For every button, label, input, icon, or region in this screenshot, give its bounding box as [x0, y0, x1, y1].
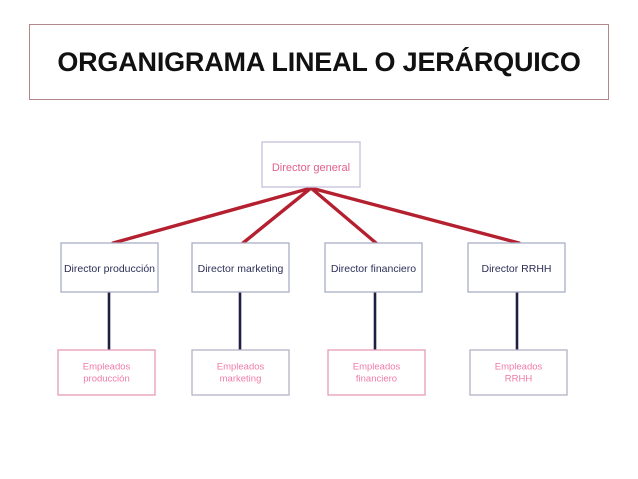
- node-empleados-financiero-label-line2: financiero: [356, 374, 397, 385]
- node-director-produccion-label: Director producción: [64, 263, 155, 275]
- org-chart-svg: Director general Director producción Dir…: [0, 110, 638, 479]
- edge-dg-produccion: [113, 188, 311, 243]
- page-title: ORGANIGRAMA LINEAL O JERÁRQUICO: [57, 47, 580, 78]
- slide-canvas: ORGANIGRAMA LINEAL O JERÁRQUICO Director: [0, 0, 638, 479]
- node-empleados-rrhh[interactable]: Empleados RRHH: [470, 350, 567, 395]
- org-chart: Director general Director producción Dir…: [0, 110, 638, 479]
- node-empleados-rrhh-label-line2: RRHH: [505, 374, 533, 385]
- node-empleados-marketing-label-line1: Empleados: [217, 362, 265, 373]
- node-empleados-financiero-label-line1: Empleados: [353, 362, 401, 373]
- node-director-marketing[interactable]: Director marketing: [192, 243, 289, 292]
- node-empleados-rrhh-label-line1: Empleados: [495, 362, 543, 373]
- title-banner: ORGANIGRAMA LINEAL O JERÁRQUICO: [29, 24, 609, 100]
- node-director-financiero[interactable]: Director financiero: [325, 243, 422, 292]
- node-empleados-marketing[interactable]: Empleados marketing: [192, 350, 289, 395]
- level2-connectors: [109, 292, 517, 350]
- node-empleados-financiero[interactable]: Empleados financiero: [328, 350, 425, 395]
- node-empleados-marketing-label-line2: marketing: [220, 374, 262, 385]
- node-director-general-label: Director general: [272, 162, 350, 174]
- node-director-general[interactable]: Director general: [262, 142, 360, 187]
- node-director-marketing-label: Director marketing: [198, 263, 284, 275]
- node-director-rrhh[interactable]: Director RRHH: [468, 243, 565, 292]
- node-director-produccion[interactable]: Director producción: [61, 243, 158, 292]
- node-director-financiero-label: Director financiero: [331, 263, 416, 275]
- level1-connectors: [113, 188, 519, 243]
- node-empleados-produccion-label-line2: producción: [83, 374, 129, 385]
- node-empleados-produccion[interactable]: Empleados producción: [58, 350, 155, 395]
- node-director-rrhh-label: Director RRHH: [481, 263, 551, 275]
- node-empleados-produccion-label-line1: Empleados: [83, 362, 131, 373]
